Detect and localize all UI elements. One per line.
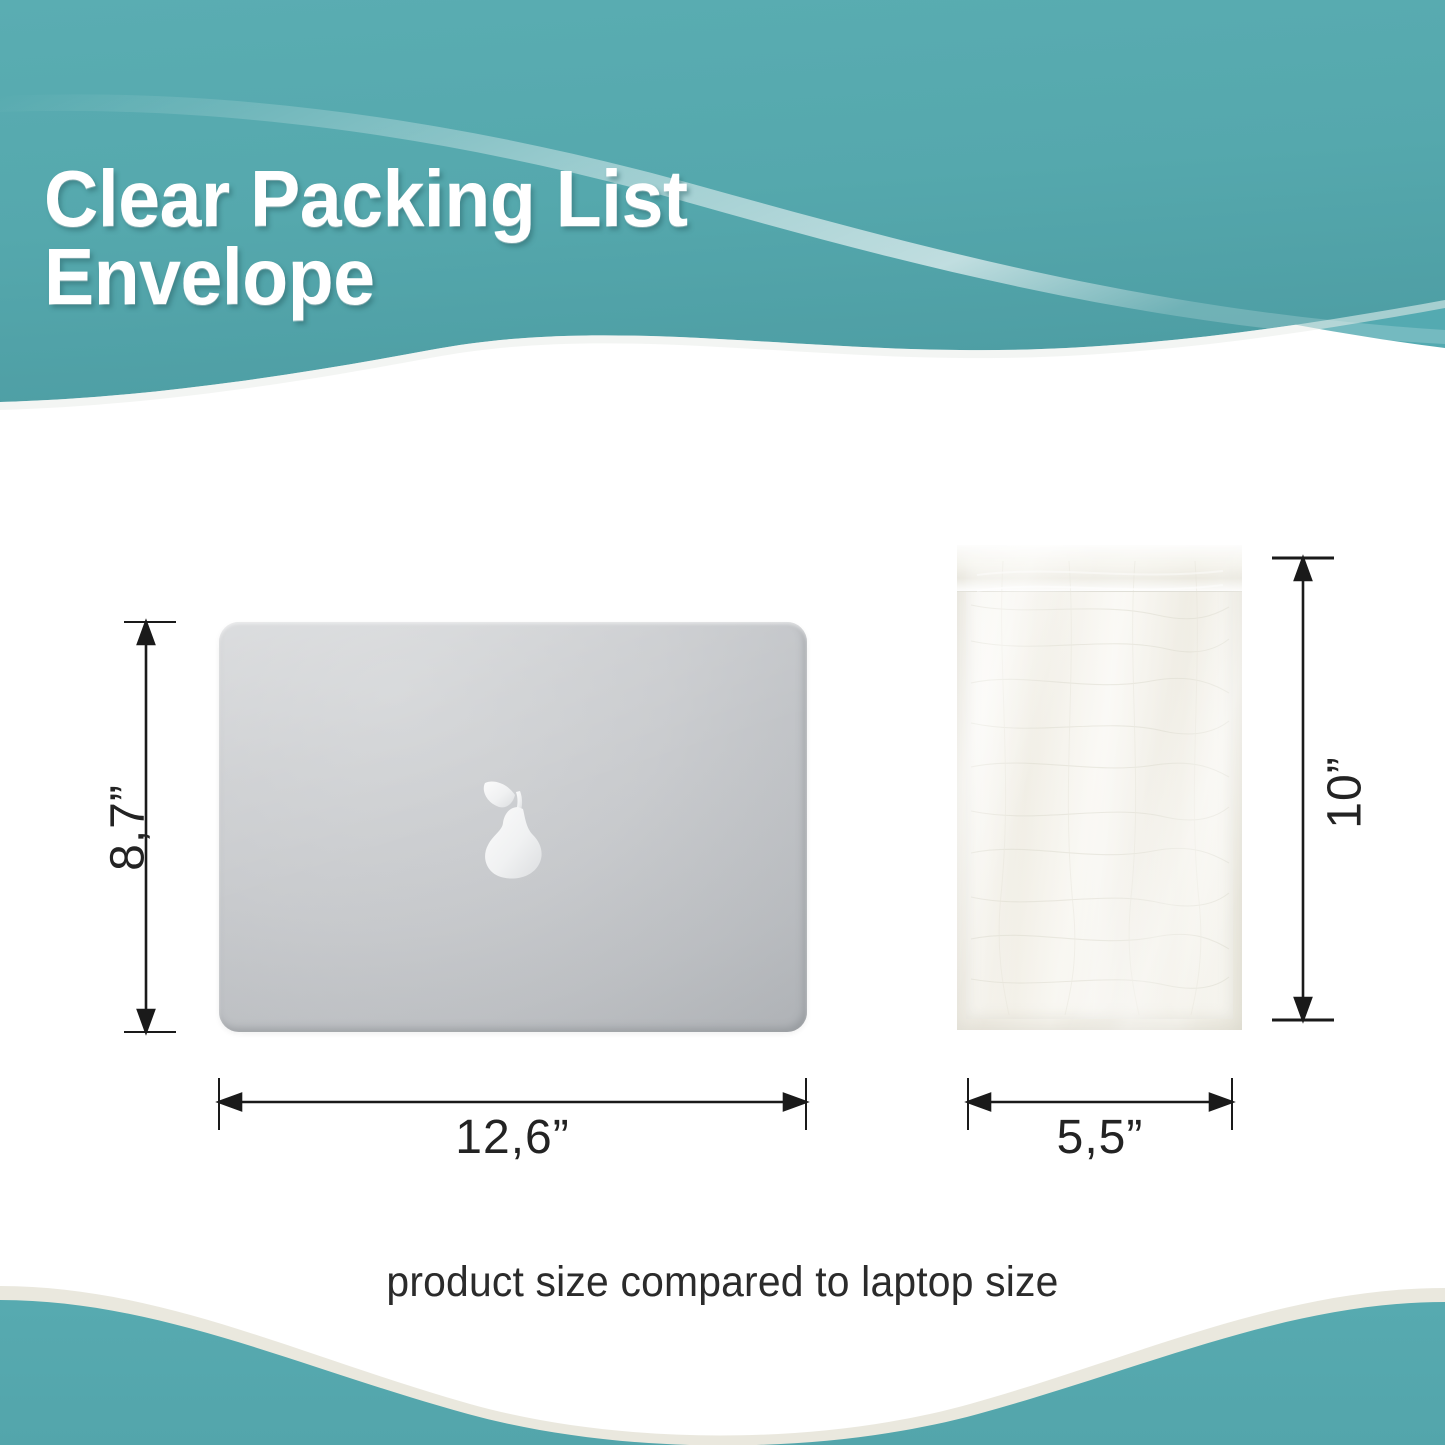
comparison-caption: product size compared to laptop size — [36, 1258, 1409, 1307]
arrow-right-icon — [1210, 1094, 1232, 1110]
arrow-up-icon — [138, 622, 154, 644]
laptop-illustration — [219, 622, 807, 1032]
envelope-illustration — [957, 545, 1242, 1030]
bottom-wave-fill — [0, 1300, 1445, 1445]
envelope-width-label: 5,5” — [968, 1110, 1232, 1165]
arrow-down-icon — [138, 1010, 154, 1032]
envelope-height-label: 10” — [1318, 733, 1373, 853]
bottom-wave-edge — [0, 1286, 1445, 1445]
laptop-width-label: 12,6” — [219, 1110, 806, 1165]
arrow-up-icon — [1295, 558, 1311, 580]
arrow-right-icon — [784, 1094, 806, 1110]
arrow-left-icon — [968, 1094, 990, 1110]
arrow-down-icon — [1295, 998, 1311, 1020]
envelope-gloss — [957, 545, 1242, 1030]
page-title: Clear Packing List Envelope — [44, 160, 815, 317]
arrow-left-icon — [219, 1094, 241, 1110]
product-infographic: Clear Packing List Envelope — [0, 0, 1445, 1445]
pear-icon — [471, 773, 555, 881]
laptop-height-label: 8,7” — [101, 768, 156, 888]
